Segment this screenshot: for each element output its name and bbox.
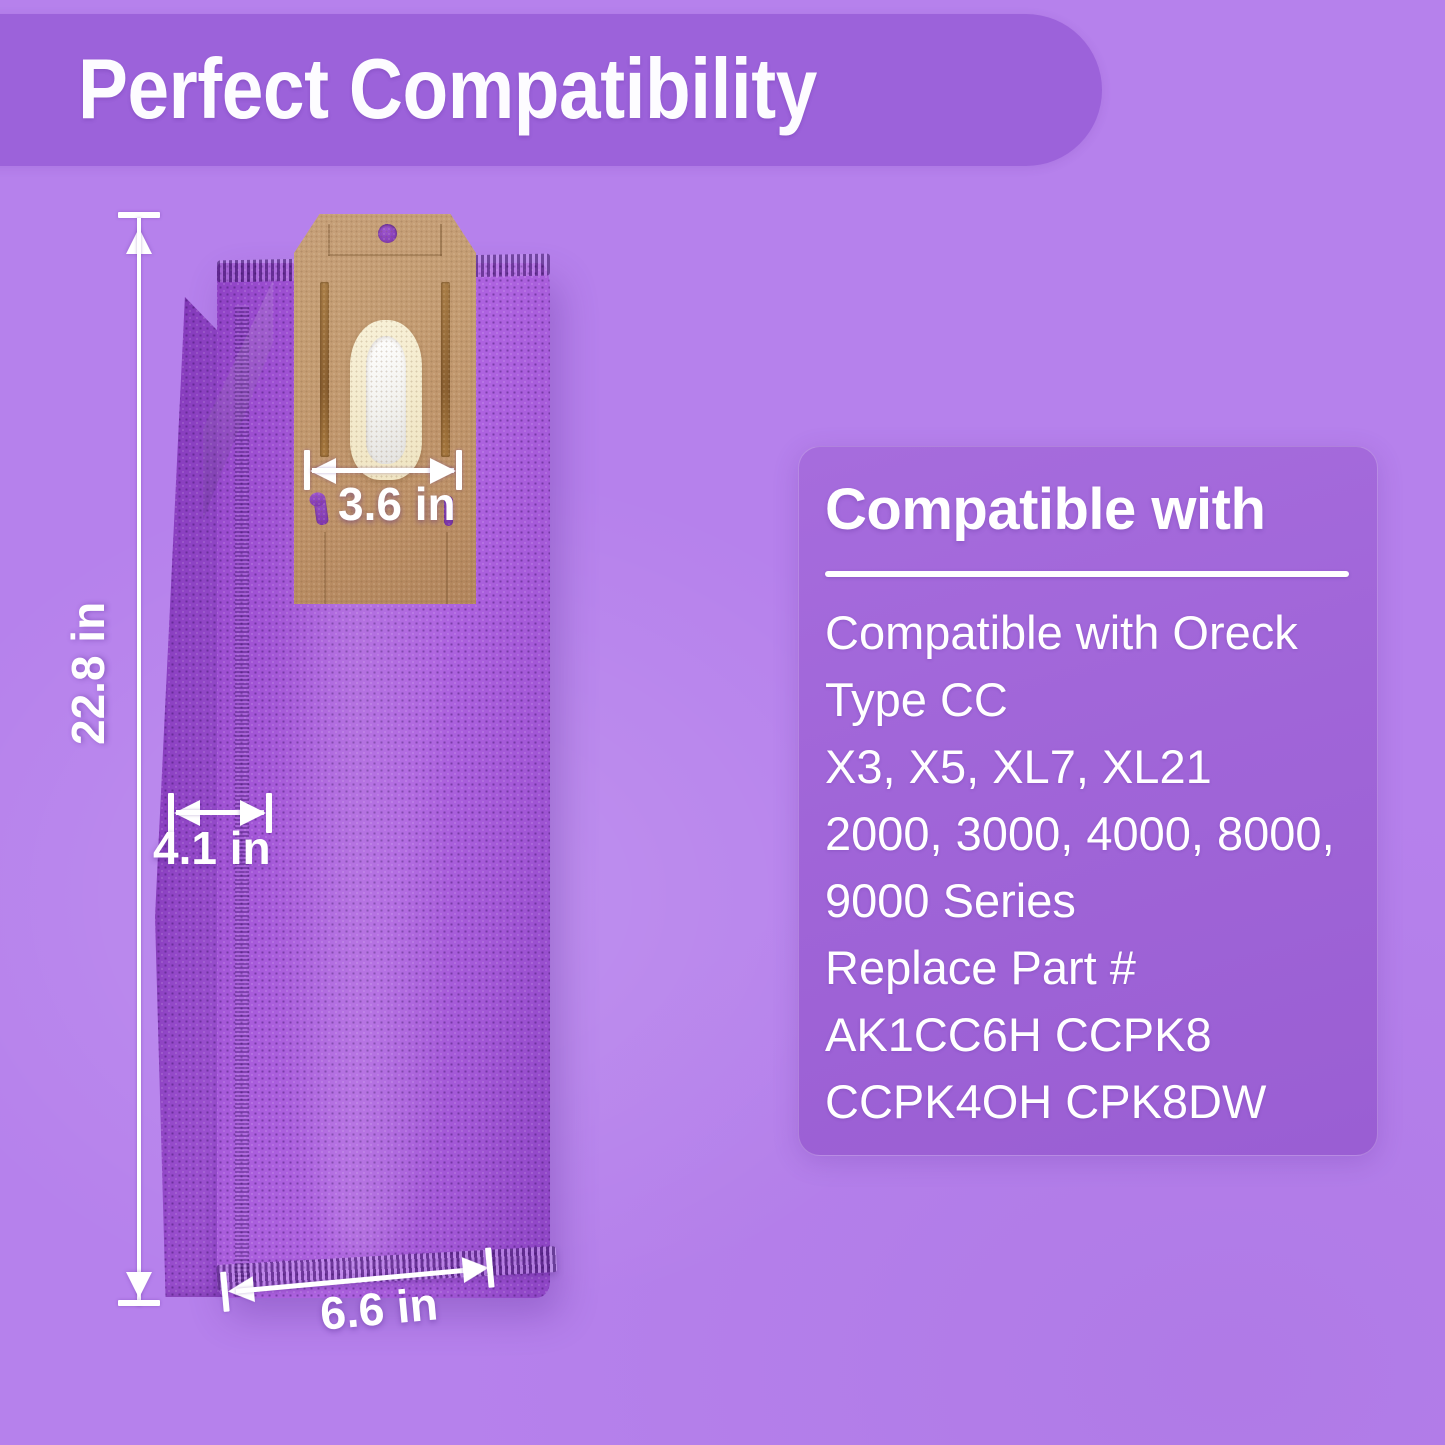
height-arrow-down-icon: [126, 1272, 152, 1298]
collar-crease-right: [440, 224, 442, 256]
list-item: 2000, 3000, 4000, 8000,: [825, 800, 1359, 867]
height-cap-bottom: [118, 1300, 160, 1306]
collar-crease-top: [328, 254, 442, 256]
list-item: 9000 Series: [825, 867, 1359, 934]
collar-slot-left: [320, 282, 329, 457]
collar-cap-right: [456, 450, 462, 490]
list-item: Type CC: [825, 666, 1359, 733]
collar-gasket: [350, 320, 422, 480]
infographic-root: Perfect Compatibility: [0, 0, 1445, 1445]
compatibility-title: Compatible with: [825, 475, 1265, 545]
list-item: X3, X5, XL7, XL21: [825, 733, 1359, 800]
collar-slot-right: [441, 282, 450, 457]
compatibility-divider: [825, 571, 1349, 577]
collar-hang-hole-icon: [378, 224, 397, 243]
list-item: Compatible with Oreck: [825, 599, 1359, 666]
collar-bottom-crease-left: [324, 532, 326, 604]
gusset-width-label: 4.1 in: [153, 822, 271, 874]
compatibility-card: Compatible with Compatible with Oreck Ty…: [798, 446, 1378, 1156]
cardboard-collar: [294, 214, 476, 604]
header-banner: Perfect Compatibility: [0, 14, 1102, 166]
list-item: AK1CC6H CCPK8: [825, 1001, 1359, 1068]
collar-keyhole-cutout: [313, 494, 329, 525]
collar-gasket-opening: [366, 336, 406, 464]
collar-crease-left: [328, 224, 330, 256]
height-label: 22.8 in: [62, 602, 114, 745]
list-item: CCPK4OH CPK8DW: [825, 1068, 1359, 1135]
compatibility-list: Compatible with Oreck Type CC X3, X5, XL…: [825, 599, 1359, 1135]
page-title: Perfect Compatibility: [78, 36, 923, 144]
collar-width-label: 3.6 in: [338, 478, 456, 530]
collar-bottom-crease-right: [446, 532, 448, 604]
product-image: [100, 190, 660, 1350]
bottom-width-label: 6.6 in: [318, 1277, 440, 1339]
height-line: [137, 218, 141, 1306]
list-item: Replace Part #: [825, 934, 1359, 1001]
